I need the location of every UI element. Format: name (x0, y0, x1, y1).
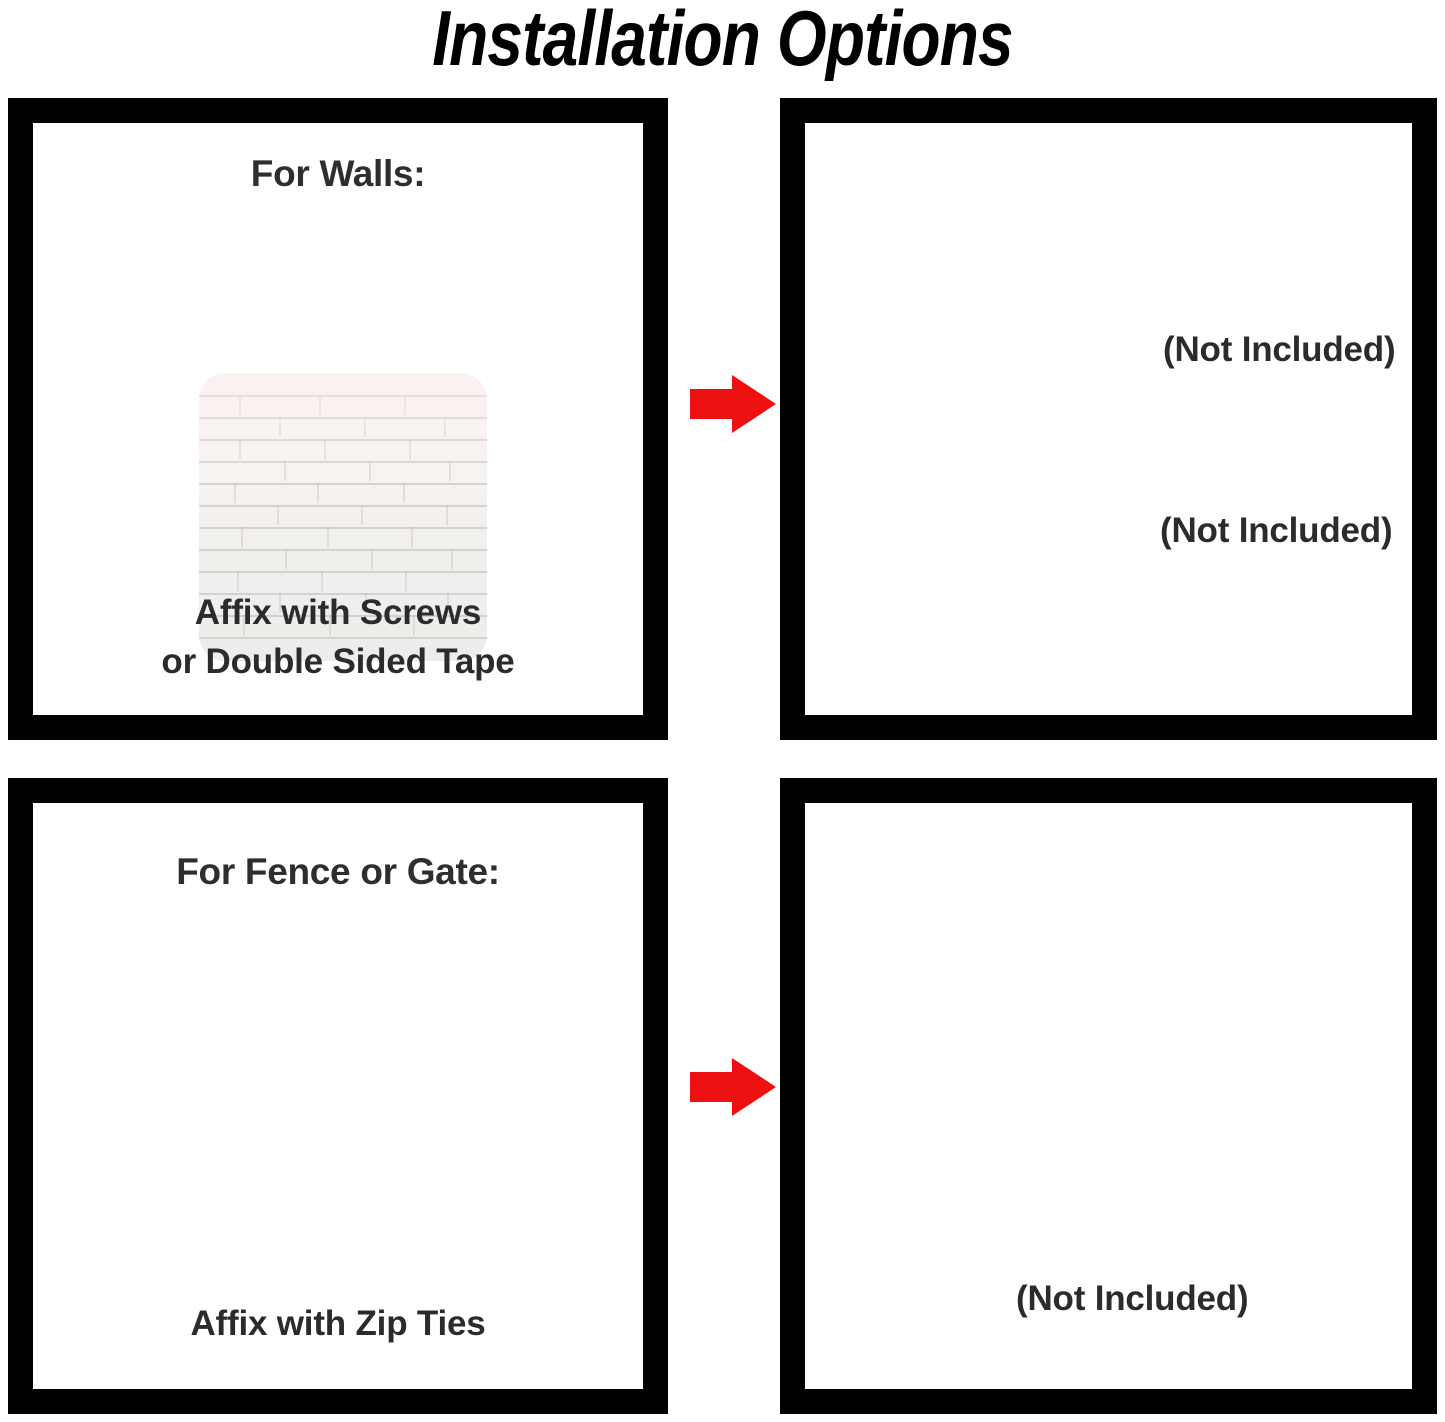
for-walls-heading: For Walls: (33, 153, 643, 195)
caption-line-1: Affix with Screws (33, 588, 643, 638)
panel-for-walls-content: For Walls: (33, 123, 643, 715)
installation-options-infographic: Installation Options For Walls: (0, 0, 1445, 1422)
tape-not-included-label: (Not Included) (1163, 330, 1395, 370)
caption-line-2: or Double Sided Tape (33, 637, 643, 687)
wall-highlight (199, 373, 487, 482)
ziptie-not-included-label: (Not Included) (1016, 1279, 1248, 1319)
panel-for-walls: For Walls: (8, 98, 668, 740)
panel-for-fence-content: For Fence or Gate: (33, 803, 643, 1389)
panel-wall-hardware-content (805, 123, 1412, 715)
arrow-head (732, 1058, 776, 1116)
caption-line-1: Affix with Zip Ties (33, 1299, 643, 1349)
for-walls-caption: Affix with Screws or Double Sided Tape (33, 588, 643, 687)
screws-not-included-label: (Not Included) (1160, 511, 1392, 551)
for-fence-heading: For Fence or Gate: (33, 851, 643, 893)
for-fence-caption: Affix with Zip Ties (33, 1299, 643, 1349)
panel-wall-hardware (780, 98, 1437, 740)
arrow-head (732, 375, 776, 433)
arrow-shaft (690, 1072, 736, 1102)
page-title: Installation Options (130, 0, 1315, 80)
panel-for-fence-or-gate: For Fence or Gate: (8, 778, 668, 1414)
arrow-shaft (690, 389, 736, 419)
